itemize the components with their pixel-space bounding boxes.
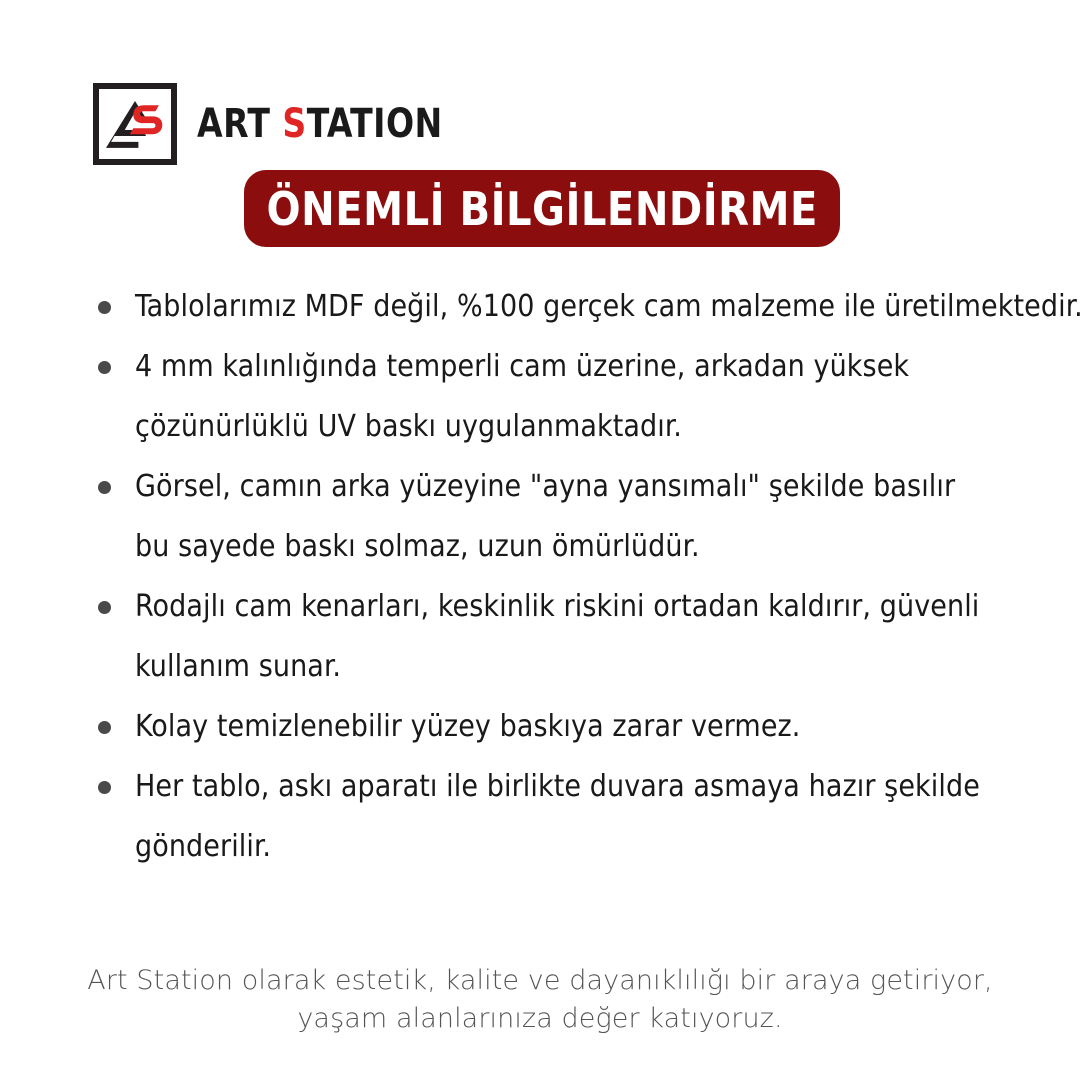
list-item: Kolay temizlenebilir yüzey baskıya zarar…: [98, 707, 1038, 767]
bullet-text: gönderilir.: [135, 827, 271, 867]
bullet-line: 4 mm kalınlığında temperli cam üzerine, …: [98, 347, 1038, 407]
bullet-line-continuation: bu sayede baskı solmaz, uzun ömürlüdür.: [98, 527, 1038, 587]
important-notice-banner: ÖNEMLİ BİLGİLENDİRME: [244, 170, 840, 247]
banner-title: ÖNEMLİ BİLGİLENDİRME: [266, 186, 817, 232]
brand-lockup: ART STATION: [93, 83, 464, 165]
bullet-dot-icon: [98, 587, 135, 627]
bullet-dot-icon: [98, 767, 135, 807]
bullet-indent-spacer: [98, 407, 135, 447]
bullet-text: Her tablo, askı aparatı ile birlikte duv…: [135, 767, 980, 807]
bullet-line: Kolay temizlenebilir yüzey baskıya zarar…: [98, 707, 1038, 767]
brand-word-part1: ART: [197, 101, 282, 147]
footer-line-2: yaşam alanlarınıza değer katıyoruz.: [0, 1000, 1080, 1038]
list-item: Her tablo, askı aparatı ile birlikte duv…: [98, 767, 1038, 887]
bullet-dot-icon: [98, 707, 135, 747]
bullet-dot-icon: [98, 467, 135, 507]
footer-line-1: Art Station olarak estetik, kalite ve da…: [0, 962, 1080, 1000]
info-bullet-list: Tablolarımız MDF değil, %100 gerçek cam …: [98, 287, 1038, 887]
bullet-indent-spacer: [98, 647, 135, 687]
bullet-line-continuation: çözünürlüklü UV baskı uygulanmaktadır.: [98, 407, 1038, 467]
bullet-text: Kolay temizlenebilir yüzey baskıya zarar…: [135, 707, 800, 747]
bullet-line: Rodajlı cam kenarları, keskinlik riskini…: [98, 587, 1038, 647]
bullet-line-continuation: gönderilir.: [98, 827, 1038, 887]
list-item: 4 mm kalınlığında temperli cam üzerine, …: [98, 347, 1038, 467]
bullet-text: bu sayede baskı solmaz, uzun ömürlüdür.: [135, 527, 700, 567]
bullet-indent-spacer: [98, 527, 135, 567]
bullet-text: Görsel, camın arka yüzeyine "ayna yansım…: [135, 467, 955, 507]
footer-tagline: Art Station olarak estetik, kalite ve da…: [0, 962, 1080, 1038]
bullet-indent-spacer: [98, 827, 135, 867]
info-graphic-page: ART STATION ÖNEMLİ BİLGİLENDİRME Tablola…: [0, 0, 1080, 1080]
brand-wordmark: ART STATION: [197, 104, 443, 144]
bullet-dot-icon: [98, 287, 135, 327]
list-item: Tablolarımız MDF değil, %100 gerçek cam …: [98, 287, 1038, 347]
list-item: Görsel, camın arka yüzeyine "ayna yansım…: [98, 467, 1038, 587]
bullet-text: Rodajlı cam kenarları, keskinlik riskini…: [135, 587, 979, 627]
bullet-text: Tablolarımız MDF değil, %100 gerçek cam …: [135, 287, 1080, 327]
bullet-line: Her tablo, askı aparatı ile birlikte duv…: [98, 767, 1038, 827]
list-item: Rodajlı cam kenarları, keskinlik riskini…: [98, 587, 1038, 707]
bullet-text: çözünürlüklü UV baskı uygulanmaktadır.: [135, 407, 682, 447]
bullet-line-continuation: kullanım sunar.: [98, 647, 1038, 707]
bullet-text: 4 mm kalınlığında temperli cam üzerine, …: [135, 347, 909, 387]
bullet-text: kullanım sunar.: [135, 647, 341, 687]
bullet-dot-icon: [98, 347, 135, 387]
bullet-line: Görsel, camın arka yüzeyine "ayna yansım…: [98, 467, 1038, 527]
brand-word-part2: TATION: [307, 101, 443, 147]
as-monogram-logo-icon: [93, 83, 177, 165]
bullet-line: Tablolarımız MDF değil, %100 gerçek cam …: [98, 287, 1038, 347]
brand-word-accent: S: [282, 101, 306, 147]
